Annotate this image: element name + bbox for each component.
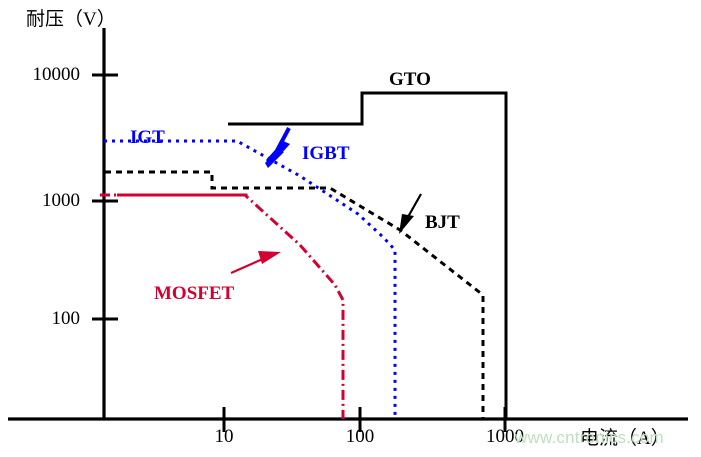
series-label-gto: GTO	[389, 69, 431, 91]
series-label-igbt: IGBT	[302, 143, 350, 165]
series-line-mosfet	[100, 195, 343, 419]
series-label-igt: IGT	[130, 127, 165, 149]
bjt-arrow-icon	[399, 194, 421, 234]
series-label-bjt: BJT	[425, 212, 460, 234]
series-line-igt	[104, 141, 395, 419]
mosfet-arrow-icon	[231, 251, 281, 273]
plot-area	[0, 0, 701, 457]
chart-canvas: 耐压（V） 电流（A） 10000 1000 100 10 100 1000 w…	[0, 0, 701, 457]
series-label-mosfet: MOSFET	[154, 283, 234, 305]
